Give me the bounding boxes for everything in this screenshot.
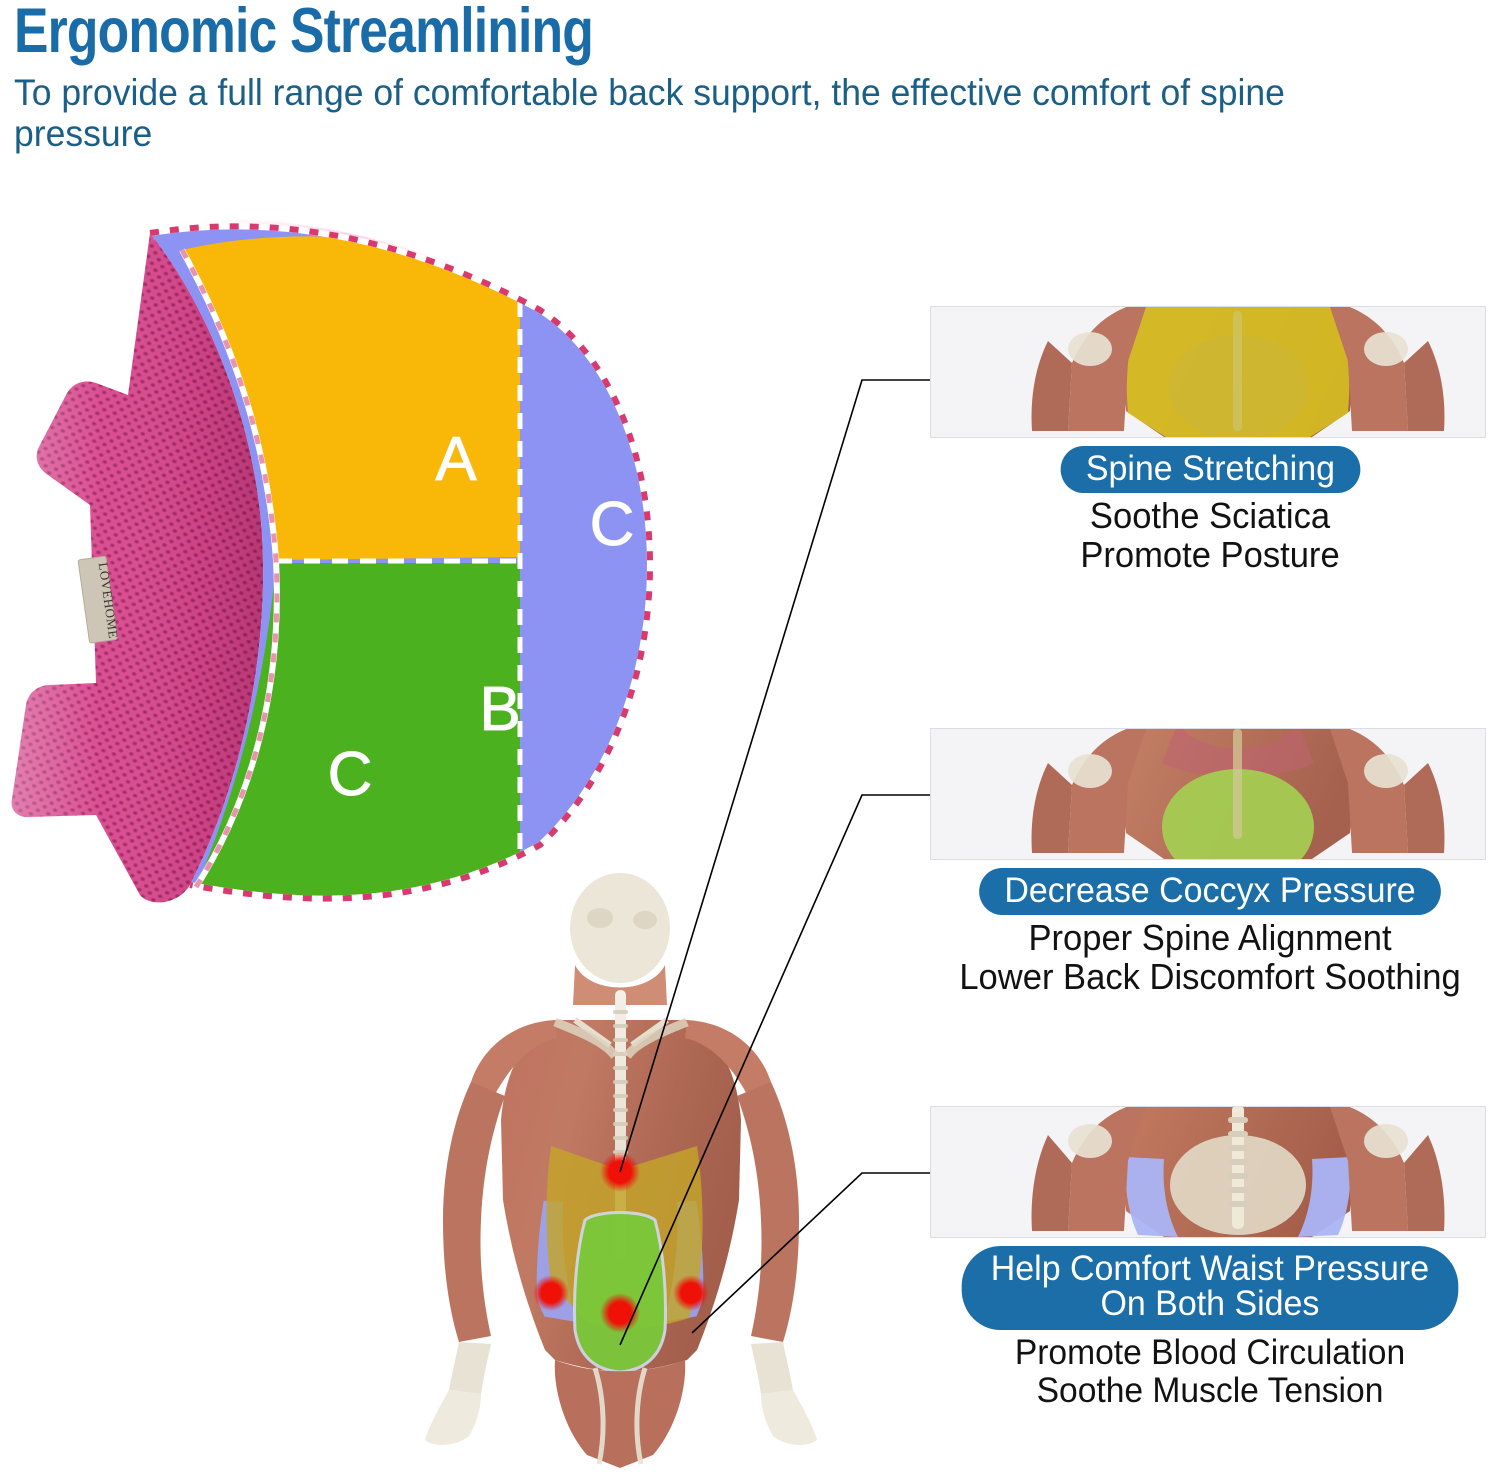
header: Ergonomic Streamlining To provide a full… [14, 2, 1434, 155]
lumbar-cushion-diagram: C C A B LOVEHOME [0, 205, 760, 925]
callout-help-comfort-waist-pressure: Help Comfort Waist Pressure On Both Side… [930, 1106, 1490, 1409]
callout-badge-2: Help Comfort Waist Pressure On Both Side… [962, 1246, 1459, 1330]
left-arm [443, 1082, 505, 1342]
page-title: Ergonomic Streamlining [14, 2, 1178, 62]
zone-label-c-left: C [328, 740, 373, 809]
callout-badge-1: Decrease Coccyx Pressure [979, 868, 1441, 915]
callout-image-2 [930, 1106, 1486, 1238]
callout-badge-0: Spine Stretching [1060, 446, 1360, 493]
skull [570, 873, 670, 983]
page-subtitle: To provide a full range of comfortable b… [14, 72, 1377, 155]
callout-spine-stretching: Spine Stretching Soothe Sciatica Promote… [930, 306, 1490, 574]
glutes [555, 1360, 685, 1468]
right-wrist [751, 1342, 793, 1394]
figure-highlight-sacral [574, 1213, 665, 1373]
callout-text-0: Soothe Sciatica Promote Posture [941, 497, 1479, 574]
callout-text-1: Proper Spine Alignment Lower Back Discom… [941, 919, 1479, 996]
human-back-anatomy-figure [405, 870, 835, 1471]
callout-decrease-coccyx-pressure: Decrease Coccyx Pressure Proper Spine Al… [930, 728, 1490, 996]
zone-label-b: B [479, 675, 520, 744]
callout-image-0 [930, 306, 1486, 438]
zone-label-c-right: C [590, 490, 635, 559]
zone-label-a: A [435, 425, 477, 494]
left-wrist [449, 1342, 491, 1394]
right-arm [737, 1082, 799, 1342]
callout-image-1 [930, 728, 1486, 860]
left-hand [425, 1390, 481, 1445]
callout-text-2: Promote Blood Circulation Soothe Muscle … [941, 1334, 1479, 1409]
right-hand [761, 1390, 817, 1445]
